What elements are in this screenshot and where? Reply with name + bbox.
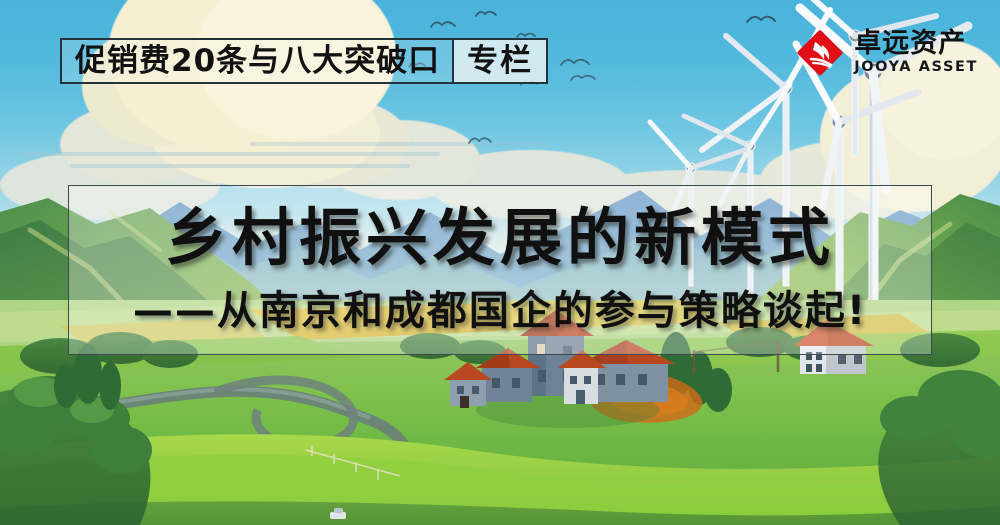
brand-logo[interactable]: 卓远资产 JOOYA ASSET (795, 28, 978, 78)
page-subtitle: ——从南京和成都国企的参与策略谈起! (133, 291, 867, 331)
title-panel: 乡村振兴发展的新模式 ——从南京和成都国企的参与策略谈起! (68, 185, 932, 355)
column-tag[interactable]: 促销费20条与八大突破口 专栏 (60, 38, 548, 84)
page-title: 乡村振兴发展的新模式 (165, 207, 835, 269)
banner-image: 促销费20条与八大突破口 专栏 卓远资产 JOOYA ASSET 乡村振兴发展的… (0, 0, 1000, 525)
jooya-diamond-logo-icon (795, 28, 845, 78)
tag-sub-label: 专栏 (454, 40, 546, 82)
tag-main-label: 促销费20条与八大突破口 (62, 40, 452, 82)
logo-english-name: JOOYA ASSET (854, 59, 978, 76)
logo-text-block: 卓远资产 JOOYA ASSET (854, 29, 978, 77)
logo-chinese-name: 卓远资产 (854, 29, 966, 58)
